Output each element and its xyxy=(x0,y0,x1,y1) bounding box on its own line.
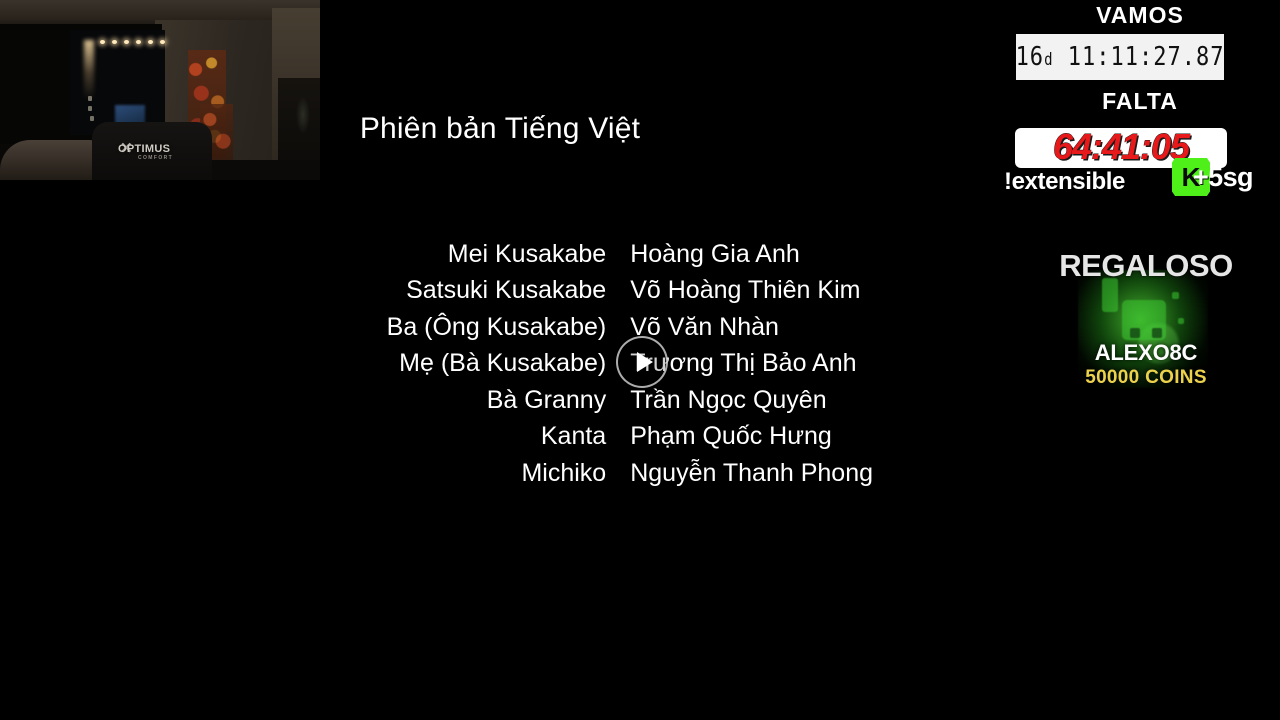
credit-row: Michiko Nguyễn Thanh Phong xyxy=(340,455,940,492)
extensible-note: !extensible xyxy=(1004,168,1125,196)
credit-row: Kanta Phạm Quốc Hưng xyxy=(340,419,940,456)
elapsed-days-suffix: d xyxy=(1044,51,1053,70)
credit-role: Ba (Ông Kusakabe) xyxy=(340,313,606,342)
credit-actor: Phạm Quốc Hưng xyxy=(630,422,940,451)
credit-role: Mei Kusakabe xyxy=(340,240,606,269)
elapsed-clock-value: 11:11:27.87 xyxy=(1068,42,1225,72)
credit-role: Satsuki Kusakabe xyxy=(340,276,606,305)
elapsed-time-display: 16d 11:11:27.87 xyxy=(1016,34,1224,80)
webcam-light-dot xyxy=(88,106,92,111)
credit-role: Michiko xyxy=(340,459,606,488)
video-title: Phiên bản Tiếng Việt xyxy=(0,112,1000,146)
credit-actor: Nguyễn Thanh Phong xyxy=(630,459,940,488)
credit-role: Kanta xyxy=(340,422,606,451)
credit-actor: Võ Văn Nhàn xyxy=(630,313,940,342)
credit-row: Mei Kusakabe Hoàng Gia Anh xyxy=(340,236,940,273)
credit-actor: Trương Thị Bảo Anh xyxy=(630,349,940,378)
webcam-sofa xyxy=(0,140,100,180)
webcam-light-glow xyxy=(84,40,94,100)
elapsed-time-value: 16d 11:11:27.87 xyxy=(1016,42,1225,72)
credit-actor: Trần Ngọc Quyên xyxy=(630,386,940,415)
gift-alert-username: ALEXO8C xyxy=(1040,340,1252,366)
credit-actor: Võ Hoàng Thiên Kim xyxy=(630,276,940,305)
gift-alert-title: REGALOSO xyxy=(1040,248,1252,284)
elapsed-days-value: 16 xyxy=(1016,42,1045,72)
play-button-icon[interactable] xyxy=(616,336,668,388)
remaining-label: FALTA xyxy=(1000,88,1280,115)
credit-role: Mẹ (Bà Kusakabe) xyxy=(340,349,606,378)
webcam-floor xyxy=(210,160,320,180)
play-triangle-icon xyxy=(637,352,653,372)
credit-row: Satsuki Kusakabe Võ Hoàng Thiên Kim xyxy=(340,273,940,310)
credit-actor: Hoàng Gia Anh xyxy=(630,240,940,269)
chair-brand-sublabel: COMFORT xyxy=(138,155,173,161)
webcam-string-lights xyxy=(100,40,164,44)
bonus-seconds-note: +5sg xyxy=(1193,162,1253,193)
webcam-light-dot xyxy=(88,96,92,101)
stream-screen: ✕ OPTIMUS COMFORT Phiên bản Tiếng Việt M… xyxy=(0,0,1280,720)
webcam-feed[interactable]: ✕ OPTIMUS COMFORT xyxy=(0,0,320,180)
elapsed-label: VAMOS xyxy=(1000,2,1280,29)
credit-role: Bà Granny xyxy=(340,386,606,415)
gift-alert-amount: 50000 COINS xyxy=(1040,367,1252,389)
gift-alert-overlay: REGALOSO ALEXO8C 50000 COINS xyxy=(1040,248,1252,398)
